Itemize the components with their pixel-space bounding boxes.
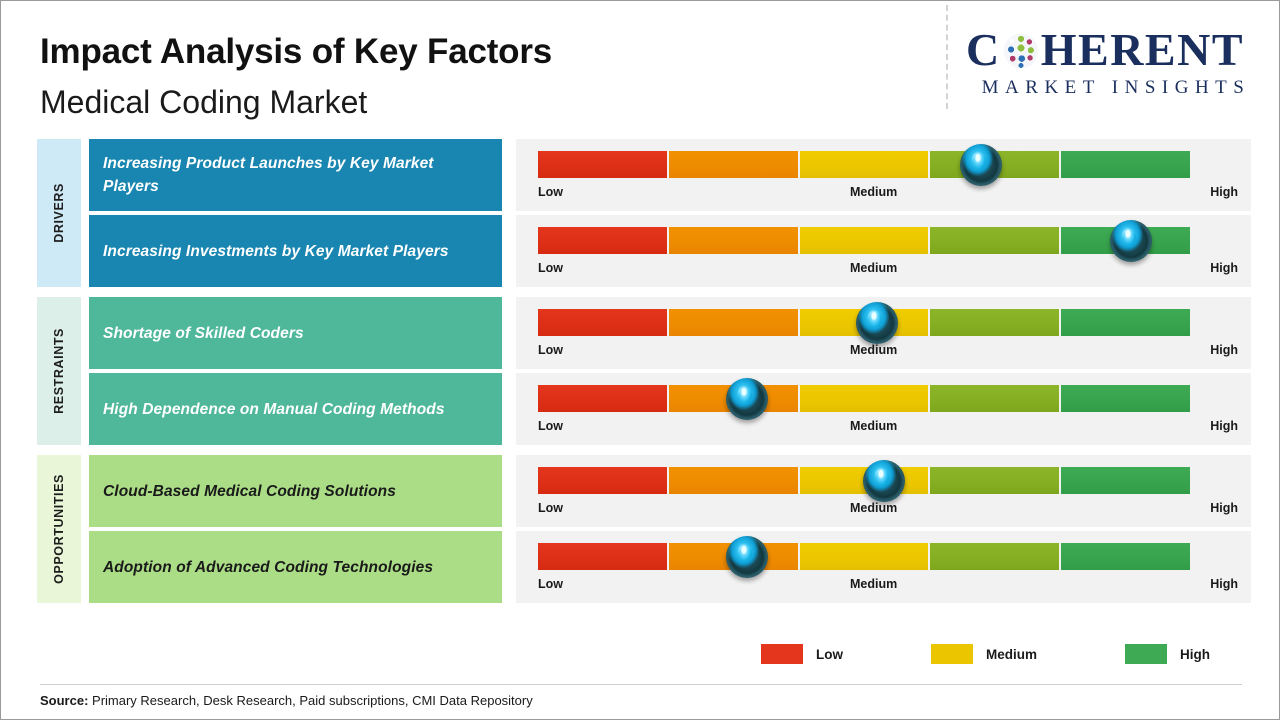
gauge-segment-high (1061, 151, 1190, 178)
gauge-label-low: Low (538, 185, 563, 199)
gauge-label-medium: Medium (850, 501, 897, 515)
gauge-scale-labels: Low Medium High (538, 261, 1238, 275)
impact-gauge-row: Low Medium High (516, 215, 1251, 287)
gauge-label-medium: Medium (850, 343, 897, 357)
gauge-segment-low (538, 467, 667, 494)
gauge-segment-medium-high (930, 385, 1059, 412)
factor-label: High Dependence on Manual Coding Methods (103, 398, 445, 421)
gauge-label-medium: Medium (850, 419, 897, 433)
gauge-label-low: Low (538, 577, 563, 591)
factor-label: Increasing Investments by Key Market Pla… (103, 240, 449, 263)
header-dashed-divider (946, 5, 948, 109)
legend-label-medium: Medium (986, 647, 1037, 662)
factor-label: Cloud-Based Medical Coding Solutions (103, 480, 396, 503)
logo-wordmark: C HERENT (966, 25, 1266, 75)
gauge-label-low: Low (538, 343, 563, 357)
factor-box[interactable]: Increasing Investments by Key Market Pla… (89, 215, 502, 287)
gauge-segment-medium (800, 385, 929, 412)
gauge-segment-medium (800, 151, 929, 178)
factor-box[interactable]: Adoption of Advanced Coding Technologies (89, 531, 502, 603)
impact-gauge-row: Low Medium High (516, 455, 1251, 527)
gauge-segment-medium-high (930, 309, 1059, 336)
legend-swatch-low (761, 644, 803, 664)
gauge-segment-high (1061, 385, 1190, 412)
gauge-segment-low (538, 227, 667, 254)
gauge-marker[interactable] (960, 144, 1002, 186)
legend-label-low: Low (816, 647, 843, 662)
impact-gauge-row: Low Medium High (516, 531, 1251, 603)
gauge-segment-low-medium (669, 151, 798, 178)
gauge-track (538, 543, 1190, 570)
gauge-segment-medium (800, 227, 929, 254)
source-text: Primary Research, Desk Research, Paid su… (88, 693, 532, 708)
globe-icon (1002, 32, 1040, 70)
gauge-track (538, 385, 1190, 412)
legend-swatch-high (1125, 644, 1167, 664)
gauge-segment-high (1061, 467, 1190, 494)
gauge-segment-low-medium (669, 227, 798, 254)
title-block: Impact Analysis of Key Factors Medical C… (40, 31, 552, 123)
category-label-restraints: RESTRAINTS (52, 328, 66, 414)
legend-item-low: Low (761, 644, 843, 664)
factor-box[interactable]: Shortage of Skilled Coders (89, 297, 502, 369)
gauge-segment-high (1061, 543, 1190, 570)
gauge-label-high: High (1210, 185, 1238, 199)
gauge-scale-labels: Low Medium High (538, 501, 1238, 515)
slide-canvas: Impact Analysis of Key Factors Medical C… (0, 0, 1280, 720)
factor-box[interactable]: High Dependence on Manual Coding Methods (89, 373, 502, 445)
gauge-segment-low (538, 385, 667, 412)
gauge-label-low: Low (538, 419, 563, 433)
coherent-market-insights-logo: C HERENT MARKET INSIGHTS (966, 25, 1266, 105)
logo-letter-c: C (966, 25, 1001, 75)
slide-header: Impact Analysis of Key Factors Medical C… (1, 1, 1280, 131)
source-label: Source: (40, 693, 88, 708)
gauge-track (538, 151, 1190, 178)
gauge-label-low: Low (538, 501, 563, 515)
gauge-segment-low (538, 309, 667, 336)
gauge-segment-medium-high (930, 467, 1059, 494)
gauge-track (538, 227, 1190, 254)
page-subtitle: Medical Coding Market (40, 81, 552, 123)
logo-letters-rest: HERENT (1041, 25, 1244, 75)
gauge-marker[interactable] (856, 302, 898, 344)
gauge-segment-medium-high (930, 227, 1059, 254)
category-drivers: DRIVERS (37, 139, 81, 287)
factor-label: Adoption of Advanced Coding Technologies (103, 556, 433, 579)
legend-label-high: High (1180, 647, 1210, 662)
gauge-segment-low-medium (669, 467, 798, 494)
category-restraints: RESTRAINTS (37, 297, 81, 445)
legend-swatch-medium (931, 644, 973, 664)
gauge-label-low: Low (538, 261, 563, 275)
impact-gauge-row: Low Medium High (516, 139, 1251, 211)
impact-matrix: DRIVERS RESTRAINTS OPPORTUNITIES Increas… (1, 133, 1280, 623)
gauge-scale-labels: Low Medium High (538, 343, 1238, 357)
gauge-segment-low (538, 151, 667, 178)
gauge-scale-labels: Low Medium High (538, 577, 1238, 591)
gauge-scale-labels: Low Medium High (538, 185, 1238, 199)
factor-label: Shortage of Skilled Coders (103, 322, 304, 345)
footer-divider (40, 684, 1242, 685)
factor-label: Increasing Product Launches by Key Marke… (103, 152, 488, 198)
category-opportunities: OPPORTUNITIES (37, 455, 81, 603)
gauge-label-high: High (1210, 343, 1238, 357)
gauge-segment-low (538, 543, 667, 570)
category-label-opportunities: OPPORTUNITIES (52, 474, 66, 584)
gauge-label-high: High (1210, 261, 1238, 275)
gauge-segment-medium-high (930, 543, 1059, 570)
legend-item-high: High (1125, 644, 1210, 664)
impact-gauge-row: Low Medium High (516, 373, 1251, 445)
gauge-segment-high (1061, 309, 1190, 336)
gauge-label-medium: Medium (850, 577, 897, 591)
gauge-scale-labels: Low Medium High (538, 419, 1238, 433)
gauge-segment-low-medium (669, 309, 798, 336)
category-label-drivers: DRIVERS (52, 183, 66, 243)
legend-item-medium: Medium (931, 644, 1037, 664)
gauge-label-medium: Medium (850, 185, 897, 199)
source-note: Source: Primary Research, Desk Research,… (40, 693, 533, 708)
gauge-segment-medium (800, 543, 929, 570)
gauge-marker[interactable] (726, 378, 768, 420)
gauge-marker[interactable] (726, 536, 768, 578)
gauge-marker[interactable] (1110, 220, 1152, 262)
gauge-label-medium: Medium (850, 261, 897, 275)
gauge-label-high: High (1210, 419, 1238, 433)
factor-box[interactable]: Increasing Product Launches by Key Marke… (89, 139, 502, 211)
chart-legend: Low Medium High (761, 644, 1210, 664)
impact-gauge-row: Low Medium High (516, 297, 1251, 369)
page-title: Impact Analysis of Key Factors (40, 31, 552, 73)
logo-tagline: MARKET INSIGHTS (966, 77, 1266, 99)
factor-box[interactable]: Cloud-Based Medical Coding Solutions (89, 455, 502, 527)
gauge-label-high: High (1210, 577, 1238, 591)
gauge-marker[interactable] (863, 460, 905, 502)
gauge-label-high: High (1210, 501, 1238, 515)
